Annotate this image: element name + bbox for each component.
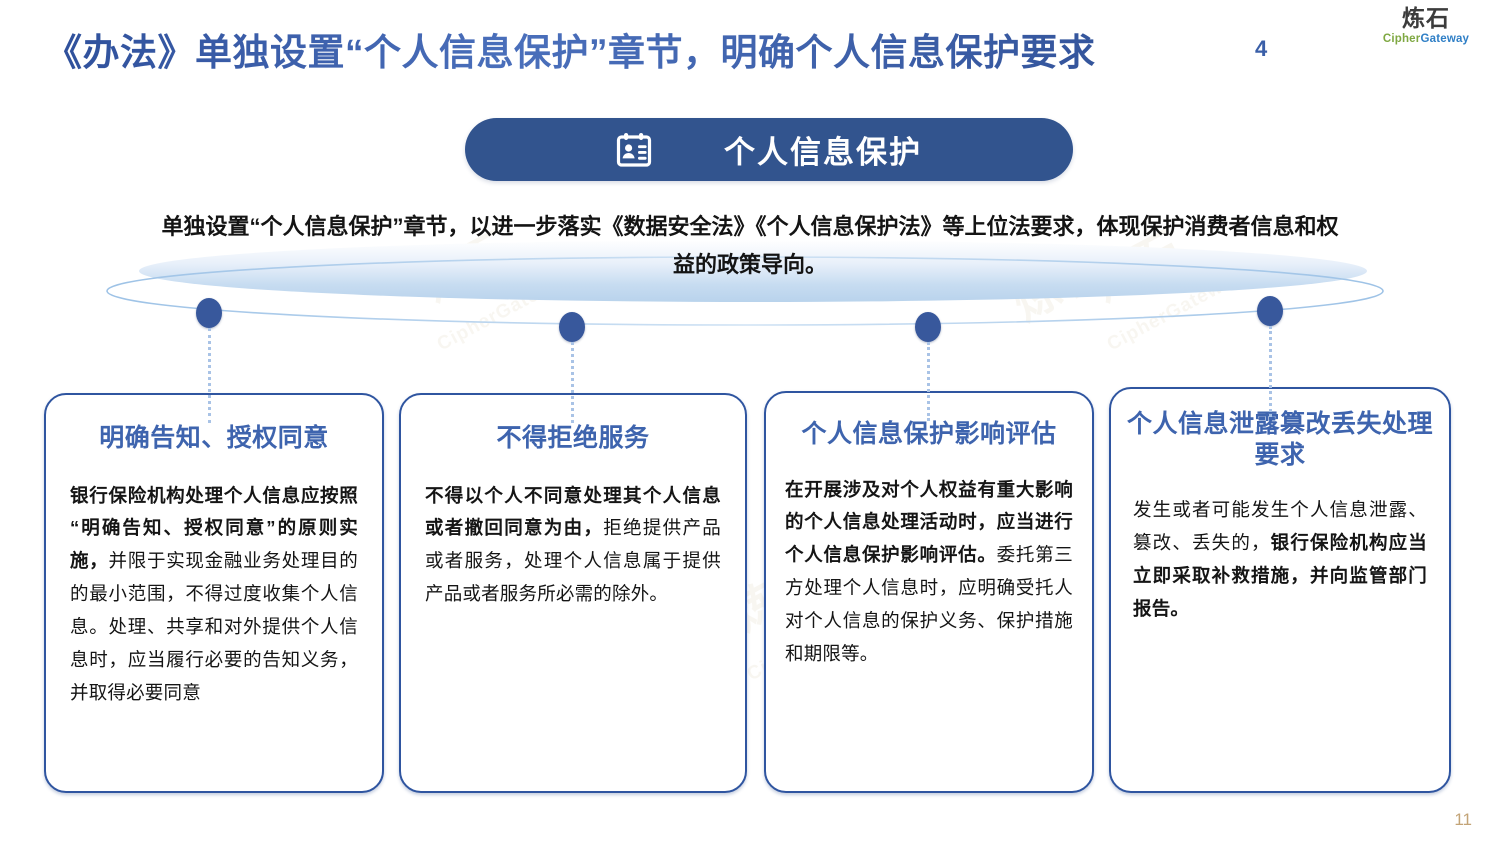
info-card-body-regular: 并限于实现金融业务处理目的的最小范围，不得过度收集个人信息。处理、共享和对外提供… [70, 550, 358, 703]
connector-dotted-line [927, 342, 933, 421]
logo-english-text: CipherGateway [1372, 34, 1480, 46]
connector-dot [1257, 296, 1283, 326]
logo-en-gateway: Gateway [1420, 33, 1469, 45]
logo-en-cipher: Cipher [1383, 33, 1421, 45]
info-card-4[interactable]: 个人信息泄露篡改丢失处理要求 发生或者可能发生个人信息泄露、篡改、丢失的，银行保… [1109, 387, 1451, 793]
connector-dotted-line [571, 342, 577, 423]
connector-dot [559, 312, 585, 342]
section-banner-label: 个人信息保护 [724, 127, 922, 172]
connector-dotted-line [1269, 326, 1275, 417]
lead-paragraph: 单独设置“个人信息保护”章节，以进一步落实《数据安全法》《个人信息保护法》等上位… [160, 208, 1340, 284]
connector-dotted-line [208, 328, 214, 423]
info-card-body: 在开展涉及对个人权益有重大影响的个人信息处理活动时，应当进行个人信息保护影响评估… [766, 450, 1092, 672]
info-card-title: 个人信息泄露篡改丢失处理要求 [1111, 389, 1449, 470]
info-card-3[interactable]: 个人信息保护影响评估 在开展涉及对个人权益有重大影响的个人信息处理活动时，应当进… [764, 391, 1094, 793]
page-number: 11 [1454, 810, 1472, 830]
id-card-icon [616, 133, 652, 167]
info-card-2[interactable]: 不得拒绝服务 不得以个人不同意处理其个人信息或者撤回同意为由，拒绝提供产品或者服… [399, 393, 747, 793]
connector-dot [915, 312, 941, 342]
info-card-body: 银行保险机构处理个人信息应按照“明确告知、授权同意”的原则实施，并限于实现金融业… [46, 454, 382, 710]
page-title: 《办法》单独设置“个人信息保护”章节，明确个人信息保护要求 [45, 22, 1096, 76]
page-title-index: 4 [1255, 36, 1267, 62]
brand-logo: 炼石 CipherGateway [1372, 8, 1480, 46]
logo-chinese-text: 炼石 [1372, 8, 1480, 31]
info-card-1[interactable]: 明确告知、授权同意 银行保险机构处理个人信息应按照“明确告知、授权同意”的原则实… [44, 393, 384, 793]
info-card-body: 不得以个人不同意处理其个人信息或者撤回同意为由，拒绝提供产品或者服务，处理个人信… [401, 454, 745, 612]
slide-root: 炼石 CipherGateway 炼石 CipherGateway 炼石 Cip… [0, 0, 1500, 844]
info-card-title: 明确告知、授权同意 [46, 395, 382, 454]
connector-dot [196, 298, 222, 328]
info-card-body: 发生或者可能发生个人信息泄露、篡改、丢失的，银行保险机构应当立即采取补救措施，并… [1111, 470, 1449, 626]
section-banner: 个人信息保护 [465, 118, 1073, 181]
